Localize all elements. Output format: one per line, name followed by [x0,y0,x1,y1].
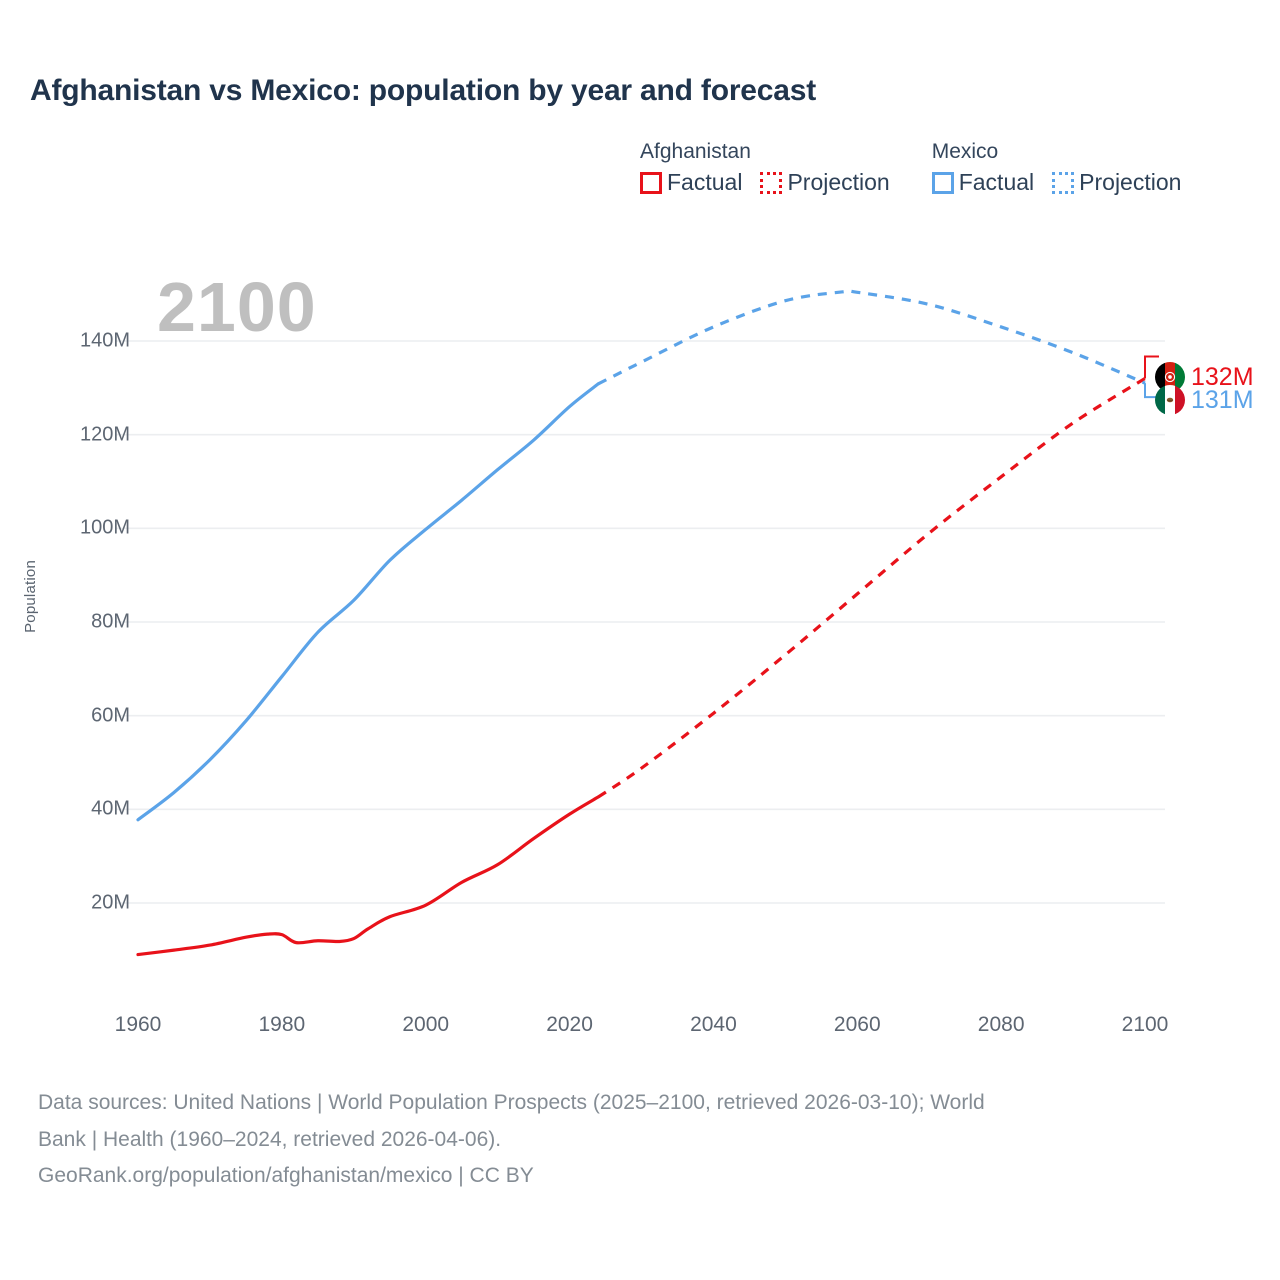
chart-page: Afghanistan vs Mexico: population by yea… [0,0,1280,1280]
y-axis-tick-label: 140M [42,330,130,353]
x-axis-tick-label: 2080 [978,1013,1025,1037]
x-axis-tick-label: 1980 [258,1013,305,1037]
footer-sources-line-1: Data sources: United Nations | World Pop… [38,1087,1238,1120]
x-axis-tick-label: 2040 [690,1013,737,1037]
chart-footer: Data sources: United Nations | World Pop… [38,1087,1238,1193]
series-line-factual-mexico [138,384,598,820]
x-axis-tick-label: 2060 [834,1013,881,1037]
endpoint-value-mexico: 131M [1191,386,1254,415]
y-axis-tick-label: 120M [42,423,130,446]
series-line-factual-afghanistan [138,797,598,955]
x-axis-tick-label: 2000 [402,1013,449,1037]
chart-plot-area: Population 2100 20M40M60M80M100M120M140M… [0,0,1280,1060]
y-axis-tick-label: 20M [42,892,130,915]
y-axis-tick-label: 80M [42,611,130,634]
y-axis-tick-label: 40M [42,798,130,821]
series-line-projection-mexico [598,291,1145,384]
mexico-emblem-icon [1165,395,1176,406]
y-axis-tick-label: 60M [42,704,130,727]
mexico-flag-icon [1155,385,1185,415]
y-axis-tick-label: 100M [42,517,130,540]
endpoint-marker-mexico: 131M [1155,385,1254,415]
footer-sources-line-2: Bank | Health (1960–2024, retrieved 2026… [38,1124,1238,1157]
series-line-projection-afghanistan [598,378,1145,796]
x-axis-tick-label: 2020 [546,1013,593,1037]
chart-svg [0,0,1280,1060]
x-axis-tick-label: 2100 [1122,1013,1169,1037]
footer-attribution[interactable]: GeoRank.org/population/afghanistan/mexic… [38,1160,1238,1193]
afghanistan-emblem-icon [1165,372,1176,383]
y-axis-ticks: 20M40M60M80M100M120M140M [42,0,130,1060]
x-axis-tick-label: 1960 [115,1013,162,1037]
